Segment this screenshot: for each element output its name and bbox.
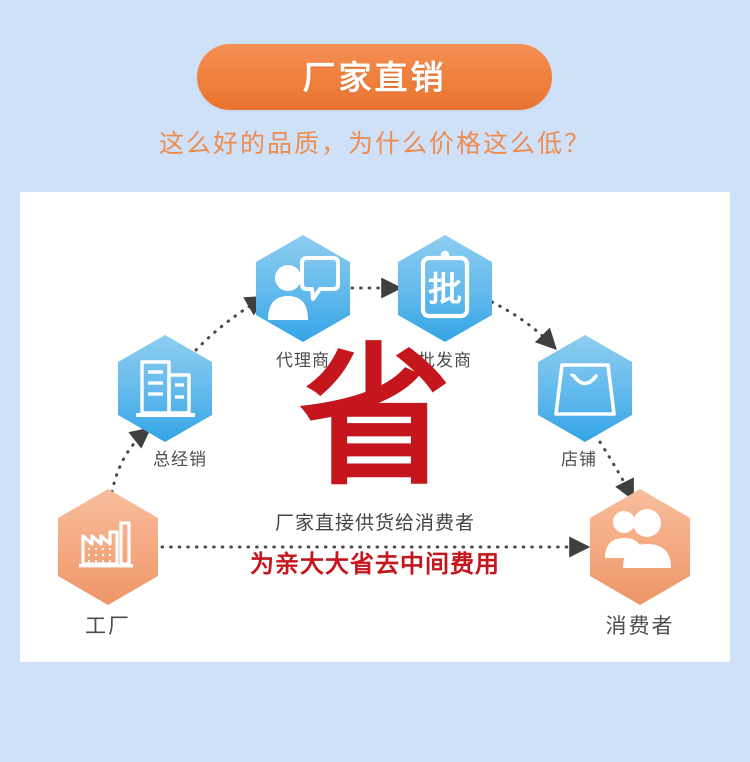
page-subtitle: 这么好的品质，为什么价格这么低？ xyxy=(0,128,750,161)
node-wholesaler[interactable]: 批 xyxy=(398,235,492,342)
edge-general-distributor-to-agent xyxy=(196,298,263,350)
node-agent[interactable] xyxy=(256,235,350,342)
node-label-general-distributor: 总经销 xyxy=(153,445,207,470)
node-label-factory: 工厂 xyxy=(85,610,131,640)
header-banner: 厂家直销 xyxy=(197,44,552,110)
node-consumer[interactable] xyxy=(590,489,690,605)
center-caption: 厂家直接供货给消费者 xyxy=(275,508,475,535)
save-character: 省 xyxy=(299,342,451,494)
factory-hexagon xyxy=(58,489,158,605)
general-distributor-hexagon xyxy=(118,335,212,442)
edge-shop-to-consumer xyxy=(600,442,632,497)
edge-wholesaler-to-shop xyxy=(492,302,554,347)
shop-hexagon xyxy=(538,335,632,442)
header-banner-title: 厂家直销 xyxy=(303,61,447,94)
node-label-consumer: 消费者 xyxy=(606,610,675,640)
node-factory[interactable] xyxy=(58,489,158,605)
svg-text:批: 批 xyxy=(428,270,462,310)
edge-factory-to-general-distributor xyxy=(112,430,148,492)
node-general-distributor[interactable] xyxy=(118,335,212,442)
node-shop[interactable] xyxy=(538,335,632,442)
center-slogan: 为亲大大省去中间费用 xyxy=(250,544,500,579)
node-label-shop: 店铺 xyxy=(561,445,597,470)
